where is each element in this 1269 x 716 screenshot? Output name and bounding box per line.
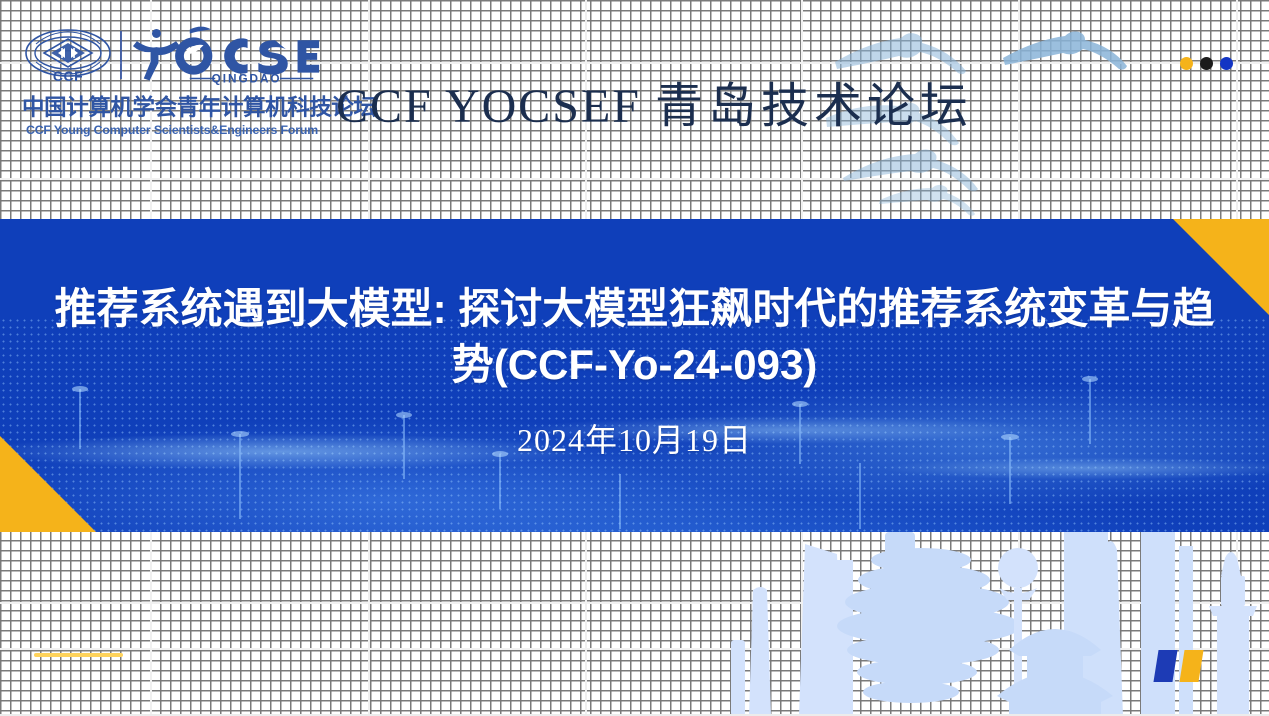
decorative-dots xyxy=(1180,57,1233,70)
org-name-cn: 中国计算机学会青年计算机科技论坛 xyxy=(22,90,322,122)
logo-divider xyxy=(120,31,122,79)
slide-header: CCF xyxy=(0,0,1269,219)
footer-accent-rule xyxy=(34,653,123,657)
dot-yellow-icon xyxy=(1180,57,1193,70)
yocsef-wordmark-icon: QINGDAO xyxy=(131,25,322,85)
event-title: 推荐系统遇到大模型: 探讨大模型狂飙时代的推荐系统变革与趋势(CCF-Yo-24… xyxy=(45,281,1225,393)
qingdao-skyline-illustration xyxy=(709,532,1269,716)
dot-blue-icon xyxy=(1220,57,1233,70)
logo-row: CCF xyxy=(22,24,322,86)
org-name-en: CCF Young Computer Scientists&Engineers … xyxy=(22,123,322,137)
yocsef-logo-block: CCF xyxy=(22,24,322,137)
forum-title: CCF YOCSEF 青岛技术论坛 xyxy=(336,66,973,136)
forum-title-cn: 青岛技术论坛 xyxy=(655,80,973,133)
dot-black-icon xyxy=(1200,57,1213,70)
event-date: 2024年10月19日 xyxy=(517,415,752,461)
yocsef-chapter-label: QINGDAO xyxy=(212,72,282,85)
svg-text:CCF: CCF xyxy=(53,68,83,84)
presentation-slide: CCF xyxy=(0,0,1269,716)
banner-content: 推荐系统遇到大模型: 探讨大模型狂飙时代的推荐系统变革与趋势(CCF-Yo-24… xyxy=(0,219,1269,532)
title-banner: 推荐系统遇到大模型: 探讨大模型狂飙时代的推荐系统变革与趋势(CCF-Yo-24… xyxy=(0,219,1269,532)
ccf-emblem-icon: CCF xyxy=(22,26,114,84)
slide-footer xyxy=(0,532,1269,716)
forum-title-en: CCF YOCSEF xyxy=(336,80,641,133)
